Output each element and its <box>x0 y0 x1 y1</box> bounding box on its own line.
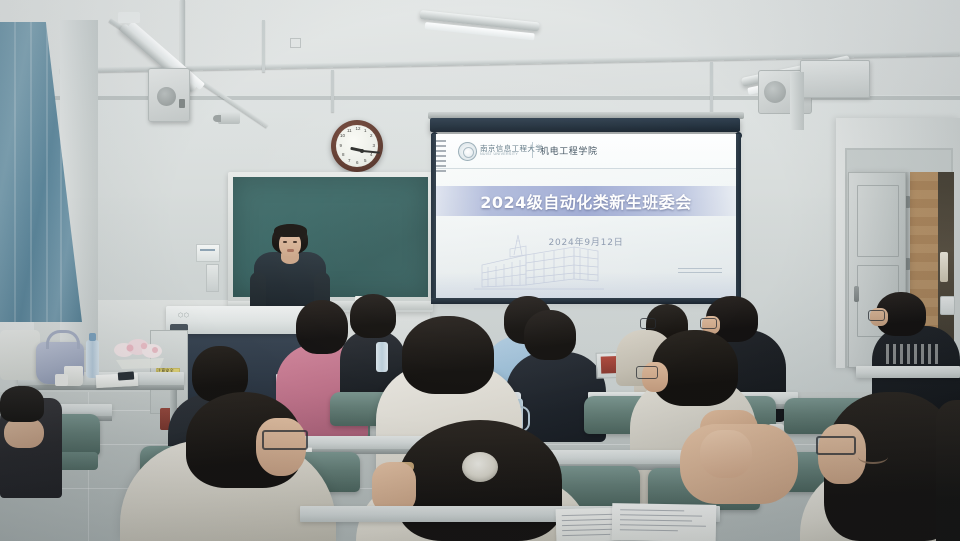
clock-numeral: 3 <box>373 143 376 148</box>
wall-plate <box>206 264 219 292</box>
clock-numeral: 1 <box>364 128 367 133</box>
student-hair <box>350 294 396 338</box>
clock-numeral: 8 <box>342 152 345 157</box>
clock-numeral: 12 <box>356 126 361 131</box>
clock-numeral: 10 <box>340 133 345 138</box>
student-arm <box>4 418 44 448</box>
security-camera <box>218 112 240 124</box>
air-conditioner-pipe <box>790 72 804 130</box>
handwritten-paper <box>612 503 717 541</box>
paper-cup <box>55 374 68 386</box>
tote-bag <box>0 330 40 380</box>
eyeglasses <box>636 366 658 379</box>
student-hair <box>296 300 348 354</box>
slide-date: 2024年9月12日 <box>436 235 736 248</box>
wall-clock: 12 1 2 3 4 5 6 7 8 9 10 11 <box>331 120 383 172</box>
clock-face: 12 1 2 3 4 5 6 7 8 9 10 11 <box>336 125 378 167</box>
air-conditioner-duct <box>800 60 870 98</box>
light-switch[interactable] <box>940 296 955 315</box>
clock-numeral: 2 <box>370 133 373 138</box>
slide-college-name: 机电工程学院 <box>540 144 598 157</box>
student-hair <box>0 386 44 422</box>
student-desk <box>856 366 960 378</box>
door-panel <box>857 185 899 257</box>
hair-scrunchie <box>462 452 498 482</box>
university-seal-icon <box>458 142 477 161</box>
eyeglasses <box>640 318 656 329</box>
water-bottle <box>86 340 99 378</box>
conduit-drop <box>331 70 334 112</box>
bouquet-flowers <box>110 338 170 372</box>
student-hand <box>700 430 752 478</box>
presentation-slide: 南京信息工程大学 NUIST UNIVERSITY 机电工程学院 <box>436 134 736 298</box>
student-hair <box>402 316 494 394</box>
smartphone <box>118 371 135 380</box>
lectern-logo: ⬡⬡ <box>178 312 189 319</box>
conduit-drop <box>710 62 713 117</box>
slide-header-rule <box>436 168 736 169</box>
corridor-light <box>940 252 948 282</box>
eyeglasses <box>816 436 856 455</box>
projector-screen-housing <box>430 118 740 132</box>
door-handle[interactable] <box>854 286 859 302</box>
clock-numeral: 7 <box>348 158 351 163</box>
screen-perforations <box>436 140 446 180</box>
student-hair <box>524 310 576 360</box>
wall-mark <box>290 38 301 48</box>
speaker-cone-icon <box>764 81 786 103</box>
bag-strap <box>46 330 80 349</box>
light-end-cap <box>118 12 140 23</box>
student-hair <box>936 400 960 541</box>
eyeglasses <box>262 430 308 450</box>
slide-title: 2024级自动化类新生班委会 <box>436 189 736 213</box>
projector-screen: 南京信息工程大学 NUIST UNIVERSITY 机电工程学院 <box>436 134 736 298</box>
bottle-cap <box>89 333 96 341</box>
slide-bottom-gradient <box>436 272 736 298</box>
eyeglasses <box>868 310 885 321</box>
clock-numeral: 5 <box>364 158 367 163</box>
necklace <box>858 450 888 464</box>
tshirt-graphic <box>886 344 940 364</box>
water-bottle <box>376 342 388 372</box>
screen-bottom-weight-bar <box>431 298 741 304</box>
slide-header-divider <box>532 142 533 158</box>
speaker-cone-icon <box>157 87 176 106</box>
slide-university-name-en: NUIST UNIVERSITY <box>480 152 518 156</box>
speaker-tweeter-icon <box>179 99 185 108</box>
clock-numeral: 6 <box>356 160 359 165</box>
clock-center-pin <box>360 149 364 153</box>
wall-speaker <box>148 68 190 122</box>
clock-numeral: 9 <box>340 143 343 148</box>
eyeglasses <box>700 318 717 329</box>
presenter-hair-fringe <box>274 224 307 237</box>
classroom-photo: 12 1 2 3 4 5 6 7 8 9 10 11 <box>0 0 960 541</box>
clock-numeral: 11 <box>347 128 352 133</box>
wall-notice <box>196 244 220 262</box>
conduit-drop <box>262 20 265 72</box>
